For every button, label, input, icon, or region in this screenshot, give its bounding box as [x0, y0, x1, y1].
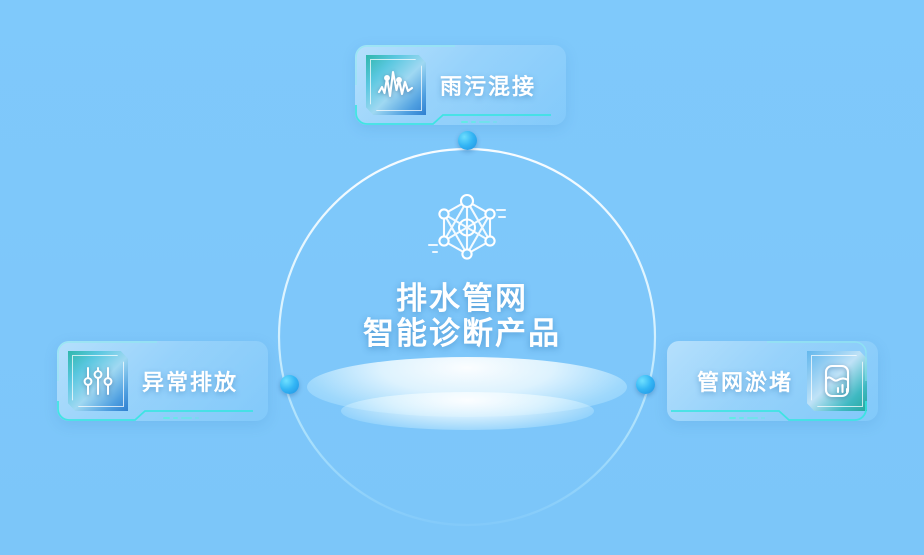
card-accent-dashes [163, 417, 199, 419]
feature-card-label: 异常排放 [142, 365, 238, 397]
feature-card-rain-sewage-mixing[interactable]: 雨污混接 [355, 45, 566, 125]
card-accent-dashes [461, 121, 497, 123]
feature-card-abnormal-discharge[interactable]: 异常排放 [57, 341, 268, 421]
feature-card-label: 管网淤堵 [697, 365, 793, 397]
platform-disc-lower [341, 392, 594, 430]
orbit-dot-right [636, 375, 655, 394]
feature-card-pipe-blockage[interactable]: 管网淤堵 [667, 341, 878, 421]
card-accent-dashes [729, 417, 765, 419]
pipe-blockage-icon [807, 351, 867, 411]
page-title-line2: 智能诊断产品 [363, 316, 561, 351]
network-graph-icon [424, 188, 510, 274]
equalizer-sliders-icon [68, 351, 128, 411]
waveform-chart-icon [366, 55, 426, 115]
page-title-line1: 排水管网 [396, 281, 528, 316]
orbit-dot-top [458, 131, 477, 150]
feature-card-label: 雨污混接 [440, 69, 536, 101]
infographic-canvas: 排水管网智能诊断产品 雨污混接 [0, 0, 924, 555]
orbit-dot-left [280, 375, 299, 394]
